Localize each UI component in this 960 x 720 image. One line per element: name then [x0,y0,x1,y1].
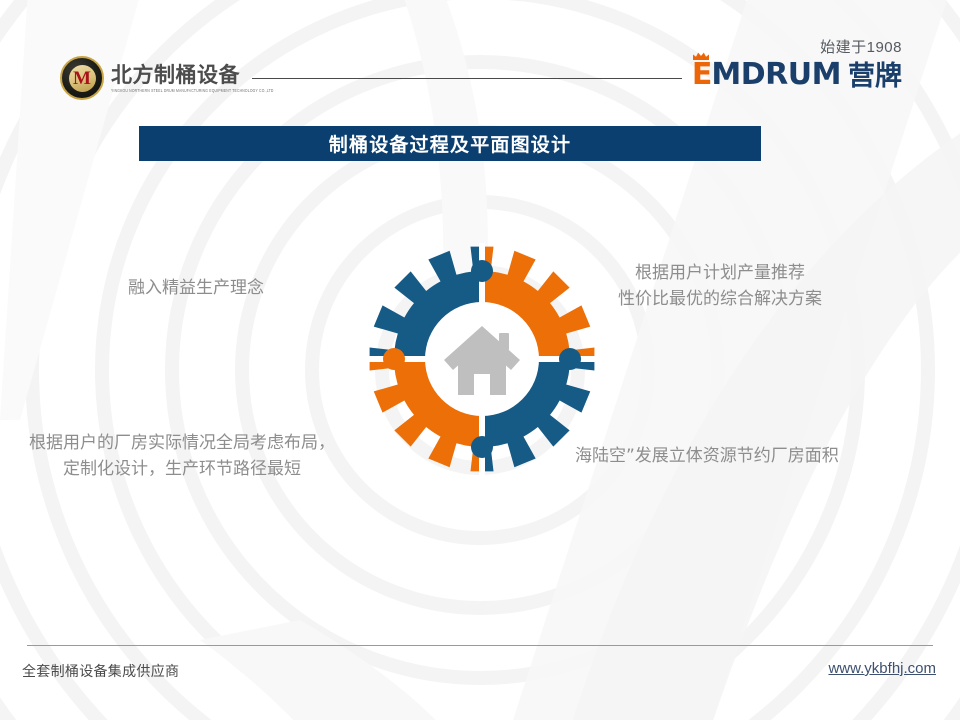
gear-knob-left [383,348,405,370]
logo-emblem-letter: M [73,69,91,88]
footer-website-link[interactable]: www.ykbfhj.com [828,660,936,677]
header-divider-line [252,78,682,79]
company-logo-left: M 北方制桶设备 YINGKOU NORTHERN STEEL DRUM MAN… [60,56,274,100]
emdrum-chinese-name: 营牌 [848,63,902,90]
callout-line: 根据用户的厂房实际情况全局考虑布局， [29,430,335,456]
gear-knob-top [471,260,493,282]
emdrum-wordmark: E MDRUM 营牌 [692,60,902,90]
callout-line: 定制化设计，生产环节路径最短 [29,456,335,482]
founded-year-label: 始建于1908 [692,36,902,57]
callout-bottom-right: 海陆空”发展立体资源节约厂房面积 [575,443,839,469]
callout-line: 根据用户计划产量推荐 [618,260,822,286]
logo-english-name: YINGKOU NORTHERN STEEL DRUM MANUFACTURIN… [111,88,274,93]
logo-emblem-inner: M [69,65,96,92]
slide-canvas: M 北方制桶设备 YINGKOU NORTHERN STEEL DRUM MAN… [0,0,960,720]
logo-left-text-block: 北方制桶设备 YINGKOU NORTHERN STEEL DRUM MANUF… [111,64,274,92]
gear-knob-bottom [471,436,493,458]
callout-line: 性价比最优的综合解决方案 [618,286,822,312]
gear-diagram [366,243,598,475]
page-title: 制桶设备过程及平面图设计 [329,130,571,157]
callout-top-right: 根据用户计划产量推荐 性价比最优的综合解决方案 [618,260,822,313]
slide-header: M 北方制桶设备 YINGKOU NORTHERN STEEL DRUM MAN… [0,0,960,115]
emdrum-rest-letters: MDRUM [711,60,841,90]
emdrum-e-glyph: E [692,57,712,92]
crown-icon [693,52,709,60]
logo-emblem-icon: M [60,56,104,100]
slide-title-bar: 制桶设备过程及平面图设计 [139,126,761,161]
footer-divider [27,645,933,646]
company-logo-right: 始建于1908 E MDRUM 营牌 [692,36,902,90]
logo-chinese-name: 北方制桶设备 [111,64,274,86]
callout-bottom-left: 根据用户的厂房实际情况全局考虑布局， 定制化设计，生产环节路径最短 [29,430,335,483]
emdrum-first-letter: E [692,60,712,90]
callout-top-left: 融入精益生产理念 [128,275,264,301]
gear-diagram-svg [366,243,598,475]
footer-tagline: 全套制桶设备集成供应商 [22,661,179,681]
callout-line: 融入精益生产理念 [128,275,264,301]
callout-line: 海陆空”发展立体资源节约厂房面积 [575,443,839,469]
gear-knob-right [559,348,581,370]
